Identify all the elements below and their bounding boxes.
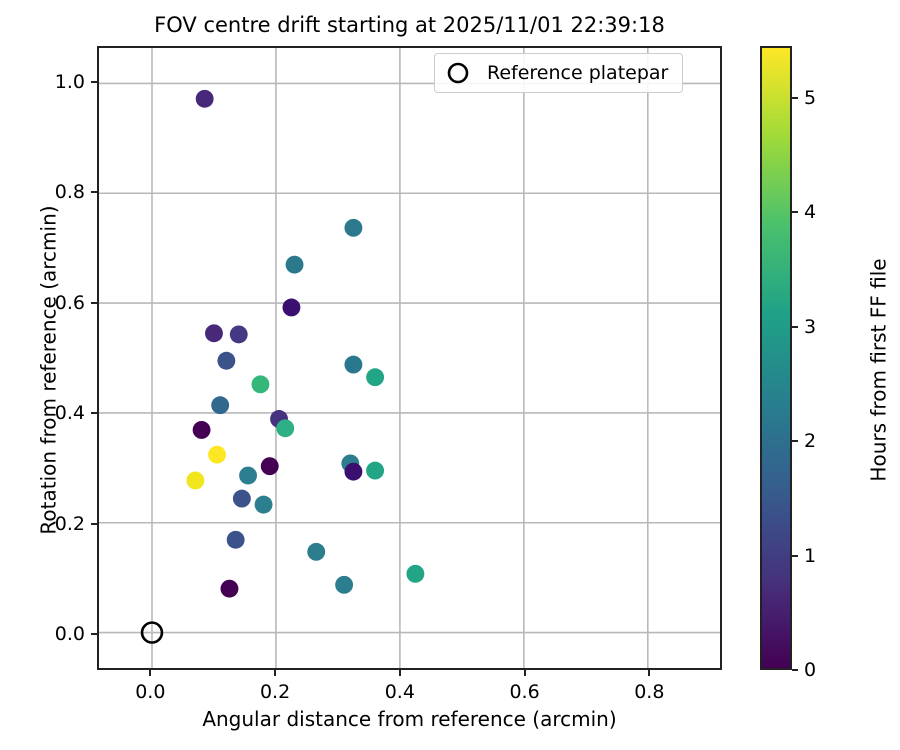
scatter-point: [307, 543, 325, 561]
scatter-point: [366, 368, 384, 386]
colorbar-tick-mark: [792, 97, 798, 99]
colorbar-gradient: [760, 46, 792, 670]
colorbar-tick-label: 3: [804, 316, 816, 338]
x-tick-mark: [648, 670, 650, 676]
legend-entry-label: Reference platepar: [487, 62, 668, 84]
x-tick-mark: [149, 670, 151, 676]
x-tick-label: 0.8: [634, 681, 664, 703]
y-axis-label: Rotation from reference (arcmin): [37, 58, 61, 683]
scatter-point: [252, 375, 270, 393]
x-tick-mark: [524, 670, 526, 676]
plot-area: [97, 46, 722, 670]
colorbar-tick-mark: [792, 326, 798, 328]
colorbar-tick-label: 2: [804, 430, 816, 452]
colorbar-tick-mark: [792, 555, 798, 557]
scatter-point: [186, 472, 204, 490]
scatter-point: [233, 490, 251, 508]
x-tick-label: 0.0: [135, 681, 165, 703]
y-tick-mark: [91, 523, 97, 525]
scatter-point: [255, 496, 273, 514]
reference-platepar-point: [142, 623, 162, 643]
scatter-point: [406, 565, 424, 583]
x-tick-mark: [399, 670, 401, 676]
colorbar: 012345: [760, 46, 792, 670]
scatter-point: [227, 531, 245, 549]
x-tick-label: 0.2: [260, 681, 290, 703]
colorbar-tick-label: 0: [804, 659, 816, 681]
scatter-point: [221, 580, 239, 598]
y-tick-mark: [91, 633, 97, 635]
y-tick-mark: [91, 302, 97, 304]
scatter-points: [99, 48, 720, 668]
scatter-point: [208, 446, 226, 464]
colorbar-label: Hours from first FF file: [867, 58, 891, 683]
colorbar-tick-mark: [792, 211, 798, 213]
figure-canvas: FOV centre drift starting at 2025/11/01 …: [0, 0, 900, 750]
scatter-point: [193, 421, 211, 439]
colorbar-tick-label: 5: [804, 87, 816, 109]
scatter-point: [211, 396, 229, 414]
scatter-point: [205, 324, 223, 342]
scatter-point: [217, 352, 235, 370]
scatter-point: [230, 325, 248, 343]
colorbar-tick-label: 4: [804, 201, 816, 223]
colorbar-tick-mark: [792, 669, 798, 671]
colorbar-tick-mark: [792, 440, 798, 442]
scatter-point: [239, 467, 257, 485]
scatter-point: [344, 219, 362, 237]
y-tick-mark: [91, 191, 97, 193]
scatter-point: [196, 90, 214, 108]
y-tick-mark: [91, 412, 97, 414]
x-tick-label: 0.4: [385, 681, 415, 703]
page-title: FOV centre drift starting at 2025/11/01 …: [97, 13, 722, 37]
scatter-point: [366, 462, 384, 480]
x-tick-label: 0.6: [509, 681, 539, 703]
scatter-point: [276, 419, 294, 437]
x-axis-label: Angular distance from reference (arcmin): [97, 707, 722, 731]
scatter-point: [335, 576, 353, 594]
scatter-point: [286, 256, 304, 274]
y-tick-mark: [91, 81, 97, 83]
x-tick-mark: [274, 670, 276, 676]
colorbar-tick-label: 1: [804, 545, 816, 567]
scatter-point: [261, 457, 279, 475]
scatter-point: [344, 463, 362, 481]
scatter-point: [344, 356, 362, 374]
reference-platepar-marker-icon: [445, 60, 471, 86]
legend: Reference platepar: [434, 53, 683, 93]
scatter-point: [282, 299, 300, 317]
